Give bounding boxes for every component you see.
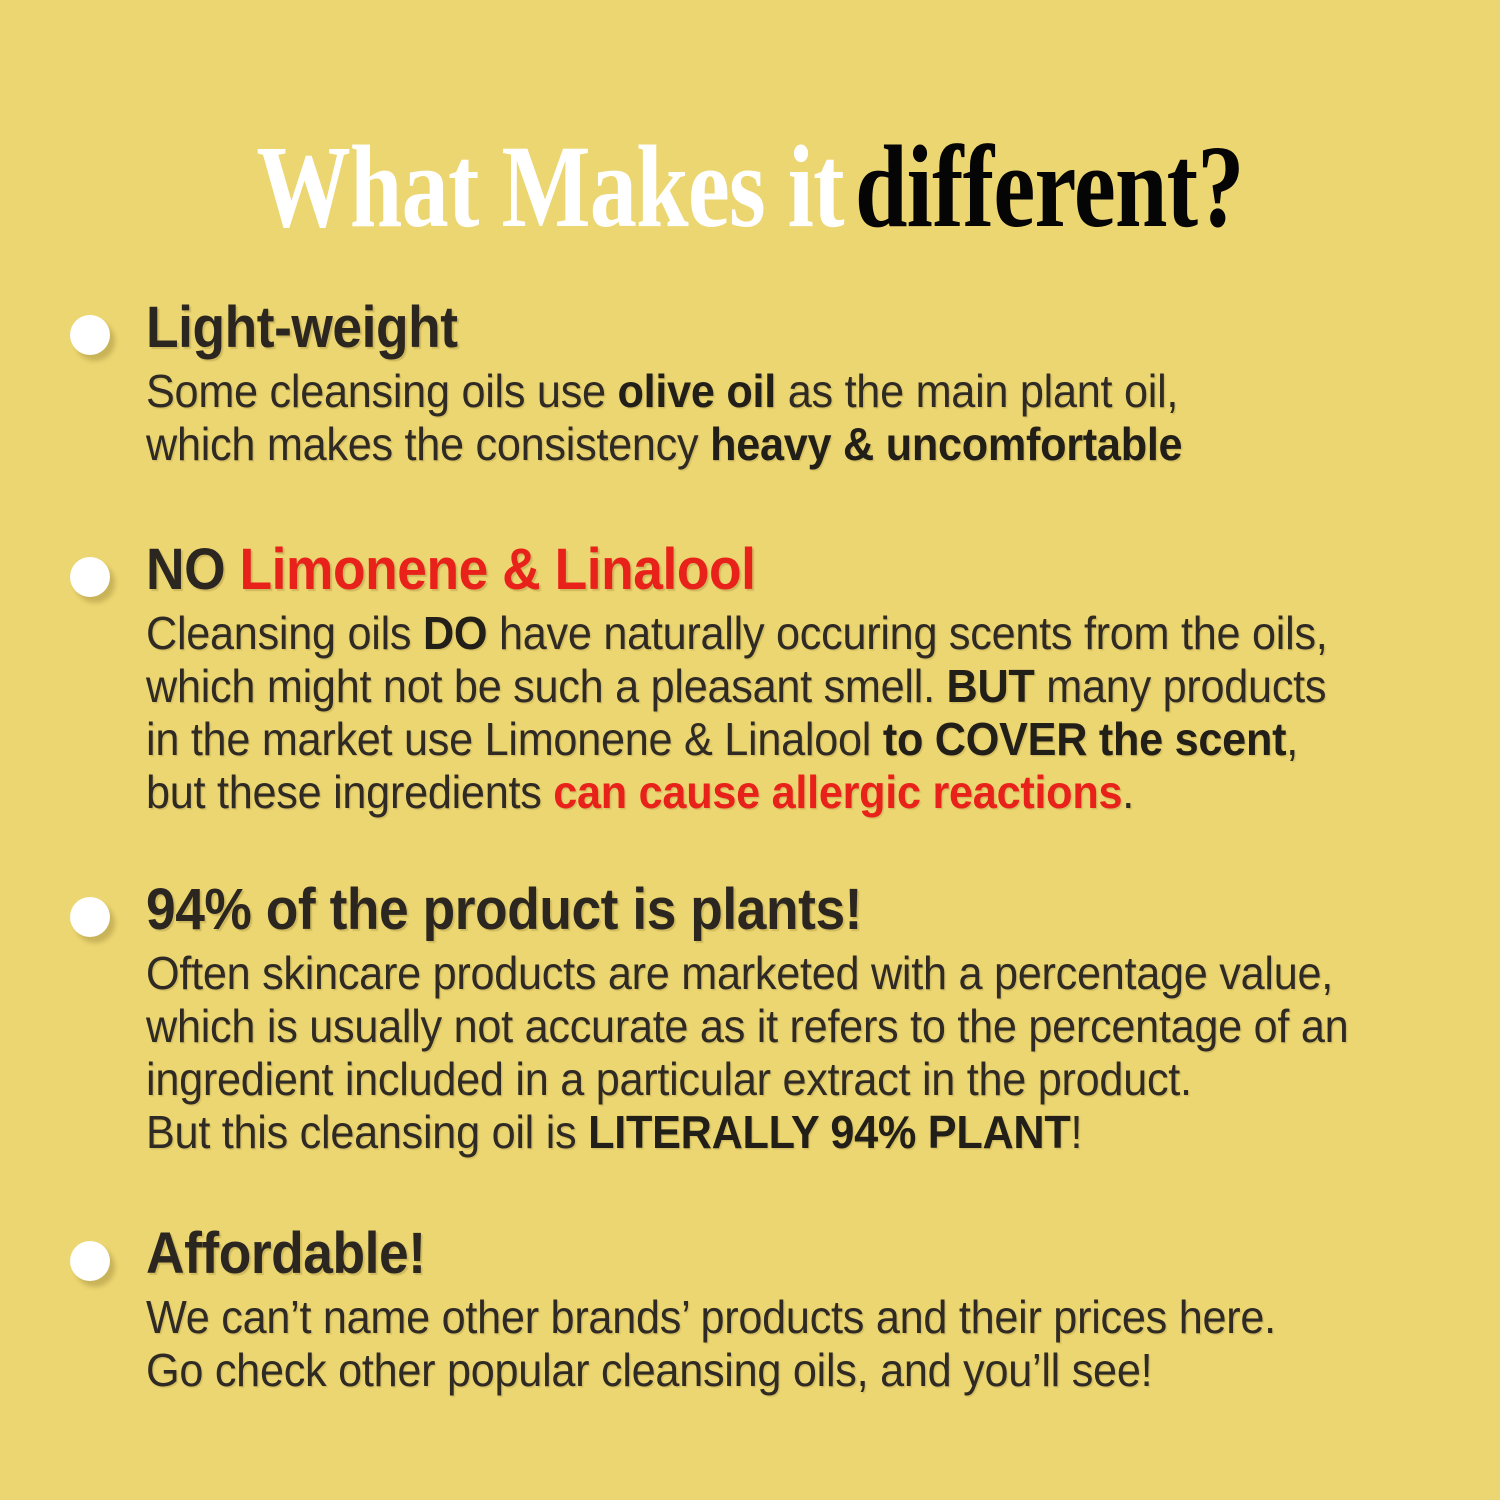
body-line: Cleansing oils DO have naturally occurin… [146, 607, 1366, 660]
text-run: olive oil [618, 365, 776, 417]
text-run: . [1122, 766, 1134, 818]
text-run: many products [1035, 660, 1327, 712]
body-line: ingredient included in a particular extr… [146, 1053, 1366, 1106]
text-run: heavy & uncomfortable [710, 418, 1182, 470]
list-item-body: Some cleansing oils use olive oil as the… [146, 365, 1366, 471]
list-item-heading: Light-weight [146, 295, 1340, 361]
list-item-body: Cleansing oils DO have naturally occurin… [146, 607, 1366, 819]
text-run: to COVER the scent [883, 713, 1286, 765]
text-run: can cause allergic reactions [553, 766, 1122, 818]
bullet-dot-icon [70, 897, 110, 937]
text-run: which makes the consistency [146, 418, 710, 470]
list-item-heading: NO Limonene & Linalool [146, 537, 1340, 603]
body-line: in the market use Limonene & Linalool to… [146, 713, 1366, 766]
bullet-dot-icon [70, 557, 110, 597]
list-item: NO Limonene & Linalool Cleansing oils DO… [64, 537, 1444, 819]
bullet-dot-icon [70, 1241, 110, 1281]
page-title-light: What Makes it [256, 121, 843, 252]
text-run: which might not be such a pleasant smell… [146, 660, 947, 712]
text-run: but these ingredients [146, 766, 553, 818]
text-run: LITERALLY 94% PLANT [588, 1106, 1070, 1158]
text-run: Affordable! [146, 1221, 426, 1286]
text-run: Often skincare products are marketed wit… [146, 947, 1333, 999]
bullet-dot-icon [70, 315, 110, 355]
body-line: Often skincare products are marketed wit… [146, 947, 1366, 1000]
text-run: ! [1070, 1106, 1082, 1158]
text-run: We can’t name other brands’ products and… [146, 1291, 1276, 1343]
text-run: Some cleansing oils use [146, 365, 618, 417]
text-run: have naturally occuring scents from the … [487, 607, 1327, 659]
text-run: 94% of the product is plants! [146, 877, 862, 942]
list-item: Light-weight Some cleansing oils use oli… [64, 295, 1444, 471]
list-item-heading: Affordable! [146, 1221, 1340, 1287]
text-run: DO [423, 607, 487, 659]
page-title-dark: different? [855, 121, 1244, 252]
body-line: Some cleansing oils use olive oil as the… [146, 365, 1366, 418]
text-run: Cleansing oils [146, 607, 423, 659]
body-line: which might not be such a pleasant smell… [146, 660, 1366, 713]
text-run: , [1286, 713, 1298, 765]
list-item: Affordable! We can’t name other brands’ … [64, 1221, 1444, 1397]
text-run: in the market use Limonene & Linalool [146, 713, 883, 765]
body-line: We can’t name other brands’ products and… [146, 1291, 1366, 1344]
text-run: Limonene & Linalool [239, 537, 755, 602]
list-item: 94% of the product is plants! Often skin… [64, 877, 1444, 1159]
body-line: which makes the consistency heavy & unco… [146, 418, 1366, 471]
text-run: which is usually not accurate as it refe… [146, 1000, 1348, 1052]
body-line: but these ingredients can cause allergic… [146, 766, 1366, 819]
poster-root: What Makes itdifferent? Light-weight Som… [0, 0, 1500, 1500]
benefits-list: Light-weight Some cleansing oils use oli… [64, 295, 1444, 1397]
text-run: as the main plant oil, [776, 365, 1178, 417]
page-title: What Makes itdifferent? [150, 128, 1350, 246]
text-run: NO [146, 537, 239, 602]
text-run: But this cleansing oil is [146, 1106, 588, 1158]
list-item-body: Often skincare products are marketed wit… [146, 947, 1366, 1159]
text-run: Light-weight [146, 295, 458, 360]
body-line: Go check other popular cleansing oils, a… [146, 1344, 1366, 1397]
text-run: ingredient included in a particular extr… [146, 1053, 1192, 1105]
list-item-body: We can’t name other brands’ products and… [146, 1291, 1366, 1397]
body-line: which is usually not accurate as it refe… [146, 1000, 1366, 1053]
text-run: BUT [947, 660, 1035, 712]
list-item-heading: 94% of the product is plants! [146, 877, 1340, 943]
body-line: But this cleansing oil is LITERALLY 94% … [146, 1106, 1366, 1159]
text-run: Go check other popular cleansing oils, a… [146, 1344, 1152, 1396]
